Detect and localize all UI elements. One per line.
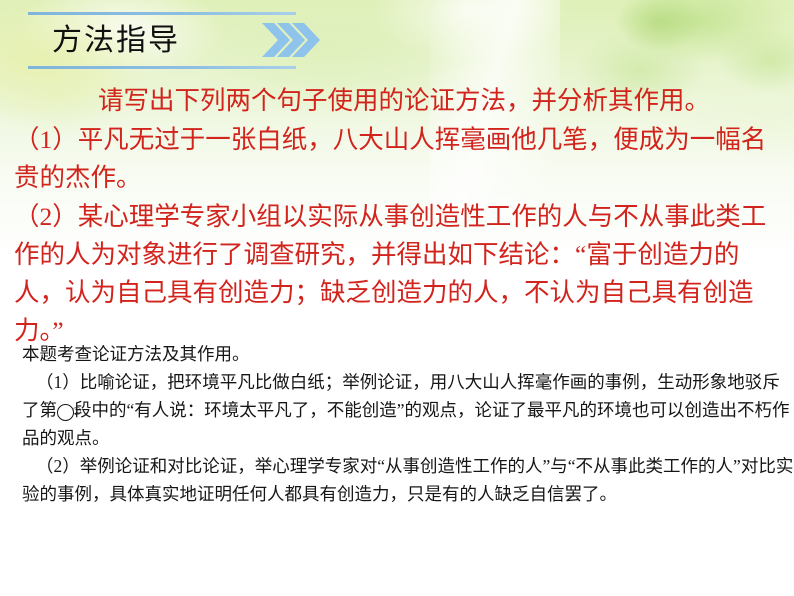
question-block: 请写出下列两个句子使用的论证方法，并分析其作用。 （1）平凡无过于一张白纸，八大… (14, 82, 784, 350)
answer-item-2: （2）举例论证和对比论证，举心理学专家对“从事创造性工作的人”与“不从事此类工作… (22, 452, 794, 508)
question-lead: 请写出下列两个句子使用的论证方法，并分析其作用。 (14, 82, 784, 120)
question-item-1: （1）平凡无过于一张白纸，八大山人挥毫画他几笔，便成为一幅名贵的杰作。 (14, 121, 784, 197)
presentation-slide: 方法指导 请写出下列两个句子使用的论证方法，并分析其作用。 （1）平凡无过于一张… (0, 0, 794, 596)
question-item-2: （2）某心理学专家小组以实际从事创造性工作的人与不从事此类工作的人为对象进行了调… (14, 198, 784, 350)
answer-item-1-part-after: 段中的“有人说：环境太平凡了，不能创造”的观点，论证了最平凡的环境也可以创造出不… (22, 400, 790, 448)
answer-lead: 本题考查论证方法及其作用。 (22, 340, 794, 368)
answer-item-1: （1）比喻论证，把环境平凡比做白纸；举例论证，用八大山人挥毫作画的事例，生动形象… (22, 368, 794, 452)
slide-content: 请写出下列两个句子使用的论证方法，并分析其作用。 （1）平凡无过于一张白纸，八大… (0, 0, 794, 596)
circled-number-icon: ① (57, 404, 74, 421)
answer-block: 本题考查论证方法及其作用。 （1）比喻论证，把环境平凡比做白纸；举例论证，用八大… (22, 340, 794, 508)
